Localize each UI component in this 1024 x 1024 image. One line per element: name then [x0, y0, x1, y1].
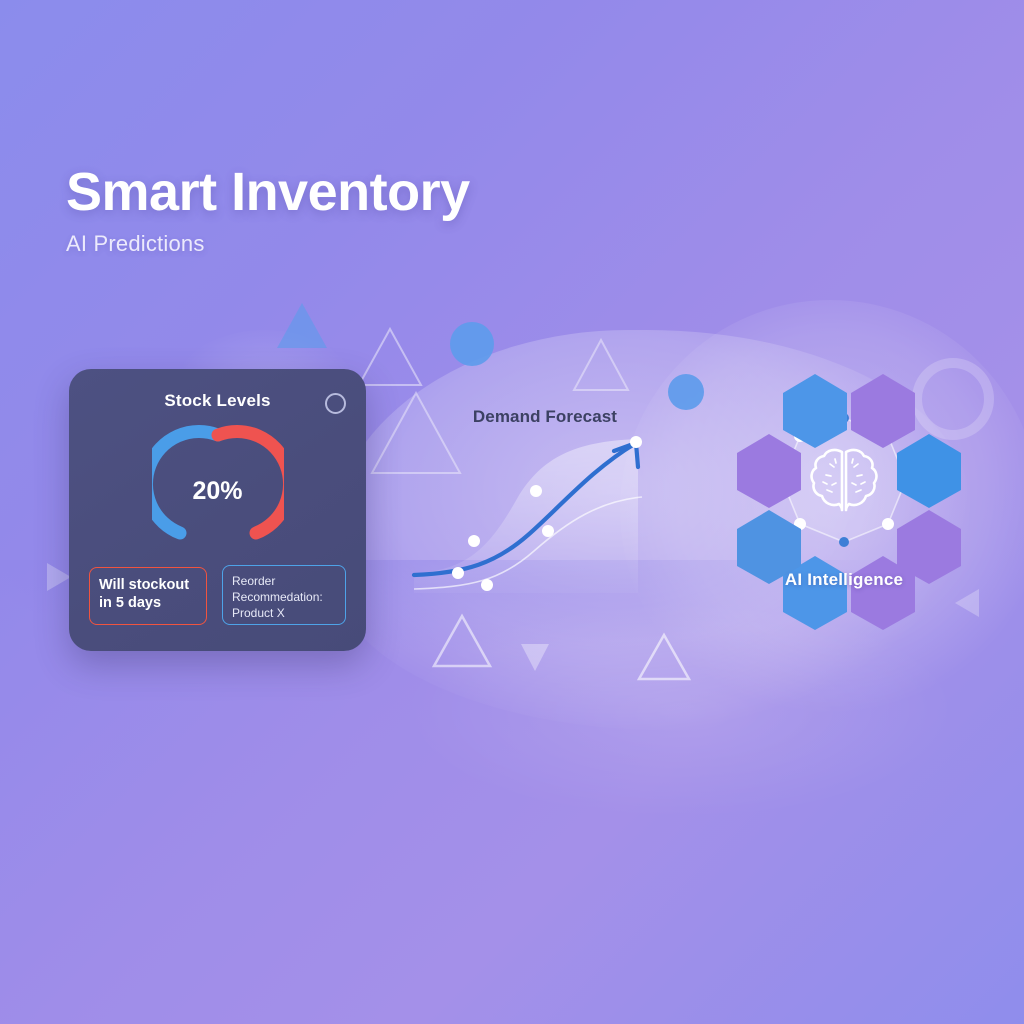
ai-cluster-label: AI Intelligence: [702, 570, 986, 590]
decor-triangle-filled-down: [518, 641, 552, 673]
status-badge-stockout[interactable]: Will stockout in 5 days: [89, 567, 207, 625]
forecast-point: [452, 567, 464, 579]
stock-levels-card[interactable]: Stock Levels 20% Will stockout in 5 days…: [69, 369, 366, 651]
decor-triangle-outline-5: [636, 632, 692, 682]
decor-triangle-outline-1: [355, 325, 425, 389]
brain-icon: [799, 440, 889, 520]
gauge-value-label: 20%: [152, 477, 284, 506]
status-badge-reorder[interactable]: Reorder Recommedation: Product X: [222, 565, 346, 625]
ai-node: [839, 537, 849, 547]
forecast-point: [530, 485, 542, 497]
decor-triangle-filled-blue: [274, 300, 330, 352]
ai-hexagon-right-upper[interactable]: [894, 432, 964, 510]
circle-outline-icon[interactable]: [325, 393, 346, 414]
ai-hexagon-bottom-right[interactable]: [848, 554, 918, 632]
card-title: Stock Levels: [69, 391, 366, 411]
badge-reorder-text: Reorder Recommedation: Product X: [232, 574, 323, 620]
infographic-canvas: Smart Inventory AI Predictions Stock Lev…: [0, 0, 1024, 1024]
forecast-point: [542, 525, 554, 537]
decor-circle-blue-1: [450, 322, 494, 366]
stock-gauge: 20%: [152, 421, 284, 551]
ai-hexagon-left-upper[interactable]: [734, 432, 804, 510]
forecast-chart: [400, 423, 690, 608]
forecast-point: [481, 579, 493, 591]
decor-triangle-outline-2: [570, 336, 632, 394]
header-block: Smart Inventory AI Predictions: [66, 165, 470, 257]
decor-triangle-outline-4: [430, 612, 494, 670]
badge-stockout-text: Will stockout in 5 days: [99, 577, 189, 611]
page-title: Smart Inventory: [66, 165, 470, 219]
forecast-point: [468, 535, 480, 547]
page-subtitle: AI Predictions: [66, 231, 470, 257]
ai-intelligence-block: AI Intelligence: [702, 372, 986, 618]
demand-forecast-block: Demand Forecast: [400, 395, 690, 605]
forecast-point: [630, 436, 642, 448]
